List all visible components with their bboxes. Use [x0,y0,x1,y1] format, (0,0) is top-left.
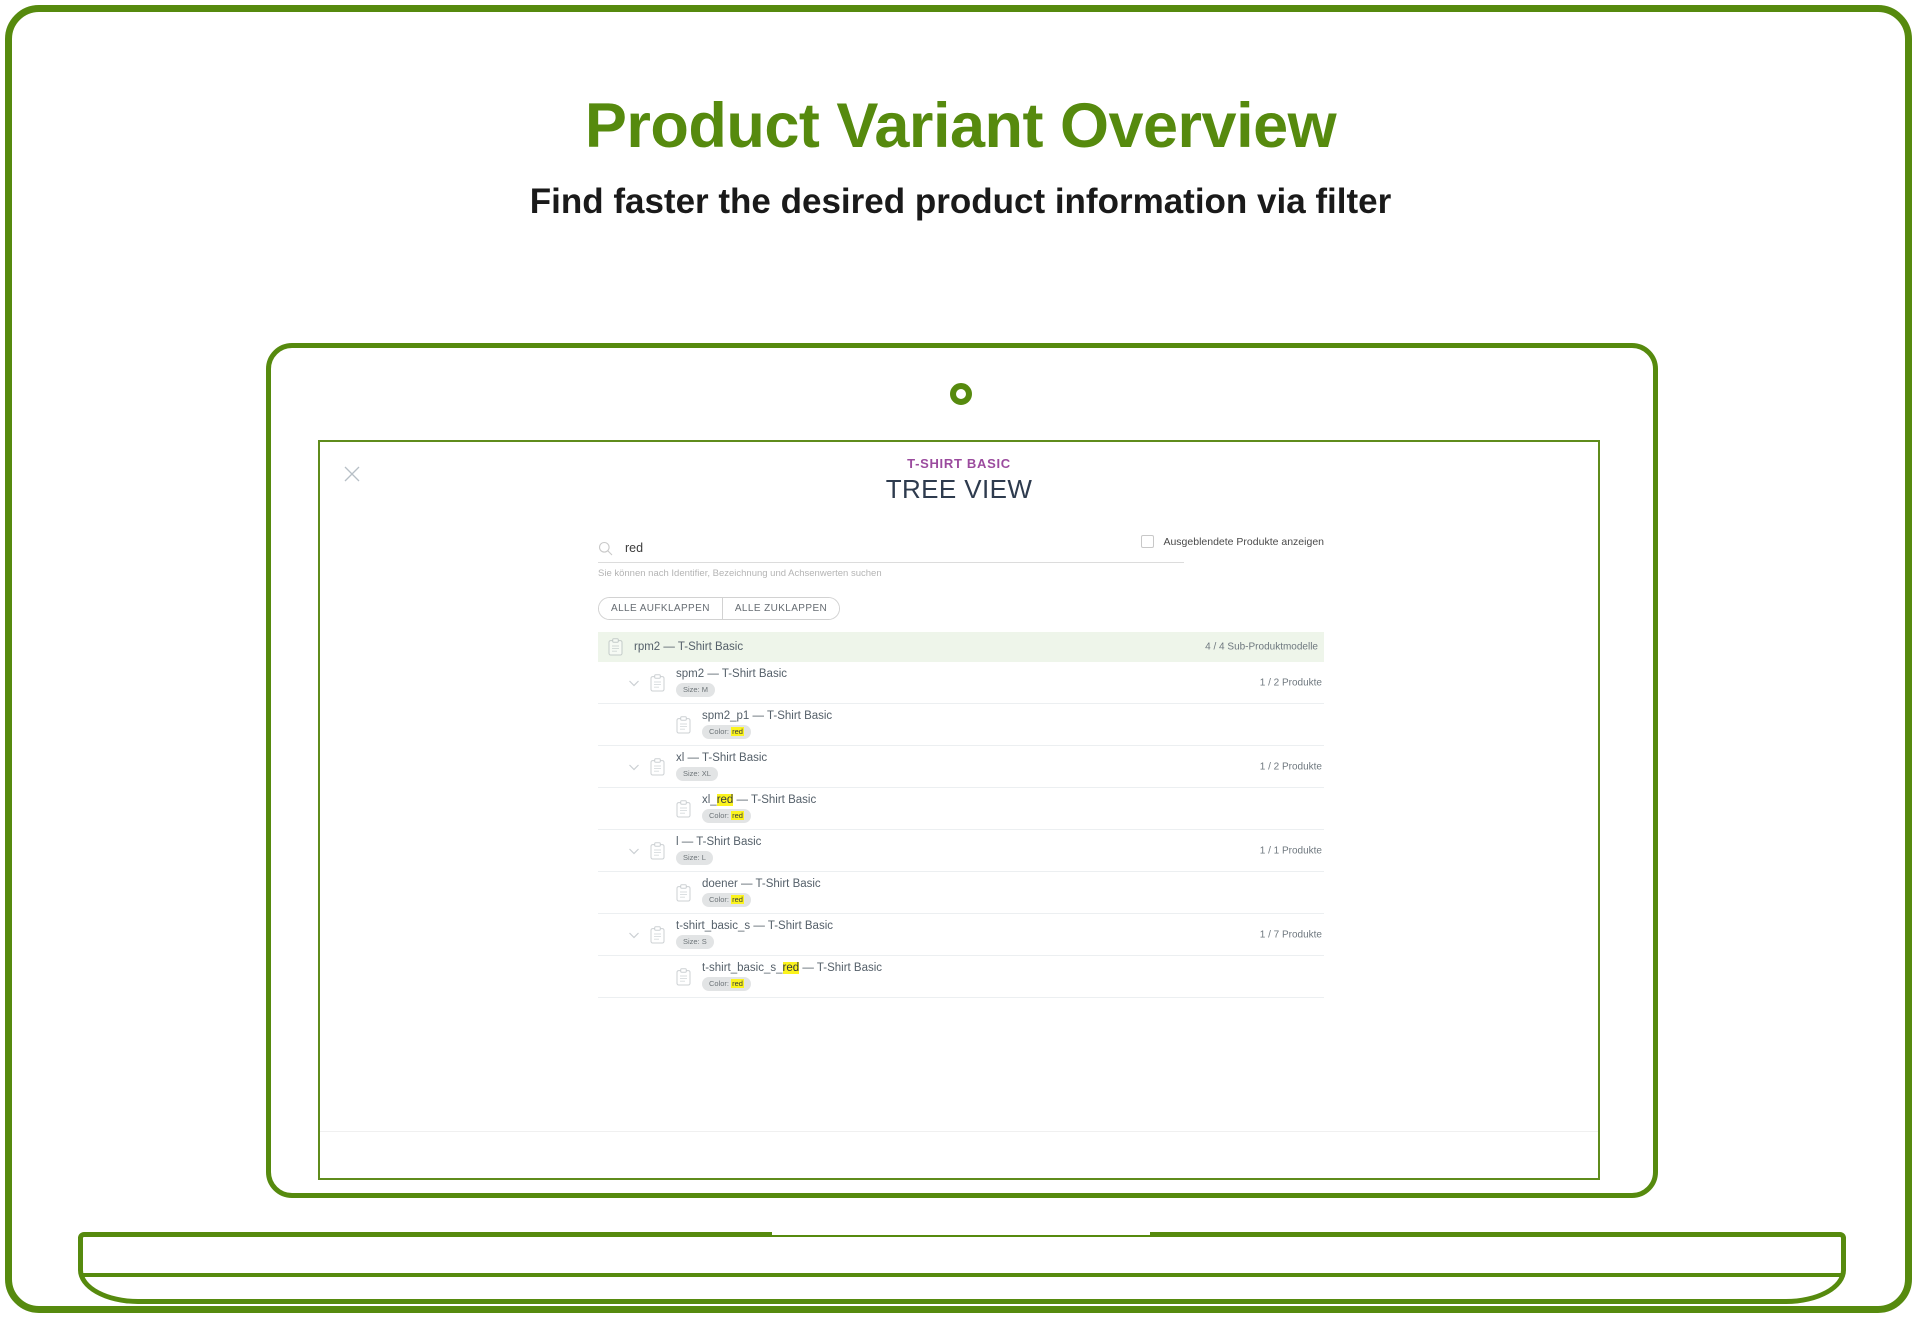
tree-row[interactable]: rpm2 — T-Shirt Basic4 / 4 Sub-Produktmod… [598,632,1324,662]
laptop-base [78,1232,1846,1304]
tree-node-tag: Size: XL [676,767,718,781]
app-eyebrow: T-SHIRT BASIC [320,454,1598,473]
tree-row-count: 1 / 7 Produkte [1260,929,1322,940]
chevron-down-icon[interactable] [626,843,642,859]
tree-row[interactable]: xl — T-Shirt BasicSize: XL1 / 2 Produkte [598,746,1324,788]
tree-node-label: spm2 — T-Shirt Basic [676,668,787,680]
product-variant-tree: rpm2 — T-Shirt Basic4 / 4 Sub-Produktmod… [598,632,1324,998]
tree-row[interactable]: l — T-Shirt BasicSize: L1 / 1 Produkte [598,830,1324,872]
tree-row-count: 1 / 2 Produkte [1260,677,1322,688]
tree-row[interactable]: t-shirt_basic_s — T-Shirt BasicSize: S1 … [598,914,1324,956]
tree-node-label: spm2_p1 — T-Shirt Basic [702,710,832,722]
hidden-products-label: Ausgeblendete Produkte anzeigen [1163,536,1324,548]
tree-node-text: t-shirt_basic_s — T-Shirt BasicSize: S [676,920,833,949]
page-subtitle: Find faster the desired product informat… [0,182,1921,222]
hidden-products-toggle[interactable]: Ausgeblendete Produkte anzeigen [1141,535,1324,548]
laptop-notch-mask [772,1229,1150,1235]
clipboard-icon [650,674,665,692]
clipboard-icon [608,638,623,656]
clipboard-icon [650,758,665,776]
tree-row[interactable]: xl_red — T-Shirt BasicColor: red [598,788,1324,830]
chevron-down-icon[interactable] [626,675,642,691]
search-input-value: red [625,541,643,555]
chevron-down-icon[interactable] [626,927,642,943]
tree-node-text: xl — T-Shirt BasicSize: XL [676,752,767,781]
search-match-highlight: red [731,979,744,988]
tree-row-count: 1 / 1 Produkte [1260,845,1322,856]
tree-node-tag: Color: red [702,977,751,991]
tree-node-label: xl_red — T-Shirt Basic [702,794,816,806]
clipboard-icon [650,842,665,860]
tree-node-tag: Size: M [676,683,715,697]
tree-node-label: t-shirt_basic_s_red — T-Shirt Basic [702,962,882,974]
tree-node-tag: Color: red [702,893,751,907]
tree-node-text: l — T-Shirt BasicSize: L [676,836,761,865]
search-input[interactable]: red [598,534,1184,563]
tree-node-tag: Color: red [702,809,751,823]
expand-all-button[interactable]: ALLE AUFKLAPPEN [599,598,722,619]
search-match-highlight: red [731,895,744,904]
application-screen: T-SHIRT BASIC TREE VIEW red Sie können n… [318,440,1600,1180]
tree-node-text: t-shirt_basic_s_red — T-Shirt BasicColor… [702,962,882,991]
tree-node-label: xl — T-Shirt Basic [676,752,767,764]
app-heading: TREE VIEW [320,473,1598,505]
laptop-base-divider [83,1273,1841,1277]
search-row: red Sie können nach Identifier, Bezeichn… [598,534,1324,582]
tree-node-label: doener — T-Shirt Basic [702,878,821,890]
tree-node-tag: Size: L [676,851,713,865]
clipboard-icon [650,926,665,944]
search-hint-text: Sie können nach Identifier, Bezeichnung … [598,568,882,579]
search-match-highlight: red [783,962,800,974]
tree-row[interactable]: spm2 — T-Shirt BasicSize: M1 / 2 Produkt… [598,662,1324,704]
clipboard-icon [676,716,691,734]
tree-node-text: spm2_p1 — T-Shirt BasicColor: red [702,710,832,739]
tree-node-text: xl_red — T-Shirt BasicColor: red [702,794,816,823]
clipboard-icon [676,884,691,902]
page-title: Product Variant Overview [0,90,1921,162]
tree-row[interactable]: doener — T-Shirt BasicColor: red [598,872,1324,914]
tree-node-text: rpm2 — T-Shirt Basic [634,641,743,653]
tree-node-text: spm2 — T-Shirt BasicSize: M [676,668,787,697]
hidden-products-checkbox[interactable] [1141,535,1154,548]
app-title-block: T-SHIRT BASIC TREE VIEW [320,454,1598,505]
footer-divider [320,1131,1598,1132]
tree-node-tag: Color: red [702,725,751,739]
clipboard-icon [676,968,691,986]
collapse-all-button[interactable]: ALLE ZUKLAPPEN [722,598,839,619]
expand-collapse-button-group: ALLE AUFKLAPPEN ALLE ZUKLAPPEN [598,597,840,620]
search-icon [598,541,613,556]
tree-node-text: doener — T-Shirt BasicColor: red [702,878,821,907]
tree-node-label: t-shirt_basic_s — T-Shirt Basic [676,920,833,932]
tree-row-count: 4 / 4 Sub-Produktmodelle [1205,642,1318,653]
search-match-highlight: red [731,727,744,736]
tree-node-label: l — T-Shirt Basic [676,836,761,848]
tree-node-label: rpm2 — T-Shirt Basic [634,641,743,653]
tree-row[interactable]: spm2_p1 — T-Shirt BasicColor: red [598,704,1324,746]
search-match-highlight: red [731,811,744,820]
tree-node-tag: Size: S [676,935,714,949]
tree-row[interactable]: t-shirt_basic_s_red — T-Shirt BasicColor… [598,956,1324,998]
laptop-camera-icon [950,383,972,405]
search-match-highlight: red [717,794,734,806]
clipboard-icon [676,800,691,818]
tree-row-count: 1 / 2 Produkte [1260,761,1322,772]
chevron-down-icon[interactable] [626,759,642,775]
